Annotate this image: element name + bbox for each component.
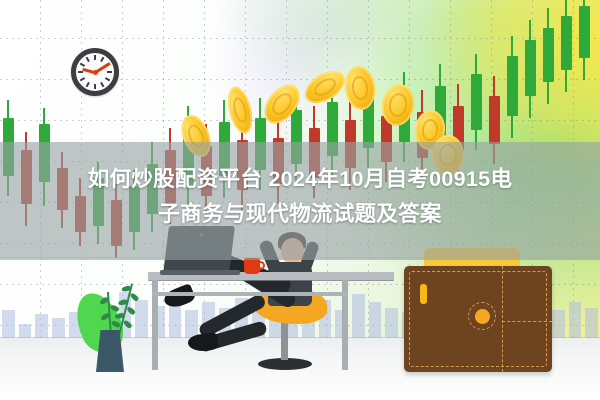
title-line-1: 如何炒股配资平台 2024年10月自考00915电 [24, 162, 576, 197]
wallet-body [404, 266, 552, 372]
background-bar [19, 324, 32, 338]
title-text: 如何炒股配资平台 2024年10月自考00915电 子商务与现代物流试题及答案 [0, 162, 600, 232]
candle-body [579, 6, 590, 58]
candlestick [543, 8, 554, 104]
candle-body [525, 40, 536, 96]
background-bar [585, 308, 598, 338]
background-bar [569, 302, 582, 338]
background-bar [352, 294, 365, 338]
clock-tick [100, 57, 104, 62]
candlestick [507, 36, 518, 138]
candlestick [525, 20, 536, 118]
background-bar [35, 314, 48, 338]
wallet-card [420, 284, 427, 304]
coffee-mug [244, 258, 260, 274]
clock-tick [80, 63, 85, 67]
clock-tick [100, 82, 104, 87]
candle-body [543, 28, 554, 82]
clock-hour-hand [83, 67, 96, 73]
clock-tick [94, 55, 96, 60]
desk-rail [152, 292, 348, 296]
candlestick [561, 0, 572, 92]
candle-body [507, 56, 518, 116]
wallet-flap-lower-seam [502, 321, 552, 372]
candle-body [561, 16, 572, 70]
wall-clock-icon [71, 48, 119, 96]
clock-tick [78, 71, 83, 73]
background-bar [2, 310, 15, 338]
laptop-keyboard-base [160, 270, 240, 275]
wallet-clasp-button [475, 309, 490, 324]
background-bar [52, 318, 65, 338]
candlestick [471, 54, 482, 150]
background-bar [369, 302, 382, 338]
candle-body [489, 96, 500, 144]
background-bar [185, 310, 198, 338]
title-line-2: 子商务与现代物流试题及答案 [24, 197, 576, 232]
clock-tick [105, 77, 110, 81]
plant-vase [96, 330, 124, 372]
clock-tick [86, 82, 90, 87]
clock-tick [107, 71, 112, 73]
illustration-canvas: 如何炒股配资平台 2024年10月自考00915电 子商务与现代物流试题及答案 [0, 0, 600, 400]
background-bar [552, 310, 565, 338]
clock-tick [86, 57, 90, 62]
clock-tick [94, 84, 96, 89]
candlestick [579, 0, 590, 80]
clock-tick [80, 77, 85, 81]
background-bar [385, 308, 398, 338]
candle-body [471, 74, 482, 130]
background-bar [135, 300, 148, 338]
